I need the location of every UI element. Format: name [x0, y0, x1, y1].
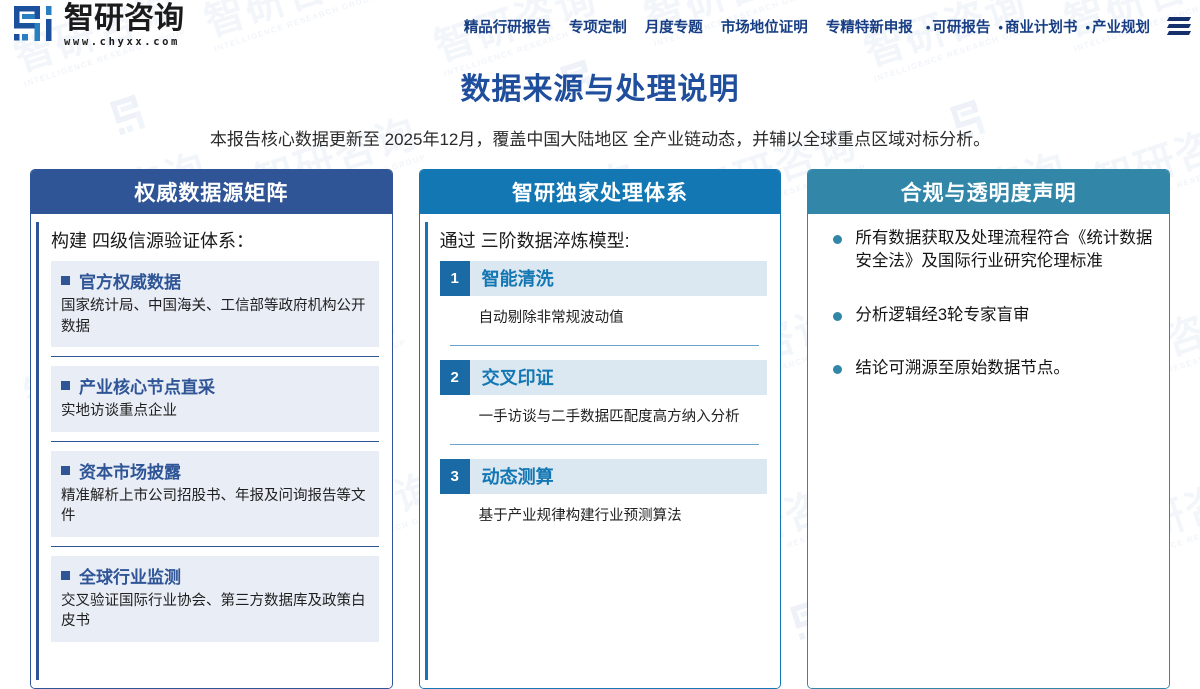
page-title: 数据来源与处理说明: [0, 64, 1200, 108]
list-item: 所有数据获取及处理流程符合《统计数据安全法》及国际行业研究伦理标准: [833, 227, 1156, 274]
nav-item-2[interactable]: 月度专题: [636, 16, 712, 37]
source-item: 官方权威数据国家统计局、中国海关、工信部等政府机构公开数据: [51, 261, 379, 347]
source-item: 资本市场披露精准解析上市公司招股书、年报及问询报告等文件: [51, 451, 379, 537]
list-item: 分析逻辑经3轮专家盲审: [833, 304, 1156, 327]
item-divider: [51, 356, 379, 357]
card-1-lead: 构建 四级信源验证体系：: [51, 227, 379, 253]
site-header: 智研咨询 www.chyxx.com 精品行研报告专项定制月度专题市场地位证明专…: [0, 0, 1200, 52]
step-desc: 一手访谈与二手数据匹配度高方纳入分析: [479, 407, 768, 428]
step-title: 智能清洗: [470, 261, 554, 296]
main-nav: 精品行研报告专项定制月度专题市场地位证明专精特新申报可研报告商业计划书产业规划: [455, 16, 1154, 37]
step-desc: 自动剔除非常规波动值: [479, 308, 768, 329]
compliance-text: 所有数据获取及处理流程符合《统计数据安全法》及国际行业研究伦理标准: [855, 227, 1156, 274]
card-1-body: 构建 四级信源验证体系：官方权威数据国家统计局、中国海关、工信部等政府机构公开数…: [31, 214, 392, 688]
item-divider: [51, 546, 379, 547]
source-item-title: 资本市场披露: [61, 458, 369, 483]
dot-bullet-icon: [833, 365, 842, 374]
nav-item-0[interactable]: 精品行研报告: [455, 16, 560, 37]
source-item: 全球行业监测交叉验证国际行业协会、第三方数据库及政策白皮书: [51, 556, 379, 642]
source-item-title-text: 产业核心节点直采: [79, 373, 215, 398]
nav-item-7[interactable]: 产业规划: [1081, 16, 1154, 37]
nav-item-5[interactable]: 可研报告: [922, 16, 995, 37]
step-number-badge: 3: [440, 459, 470, 494]
source-item-title: 产业核心节点直采: [61, 373, 369, 398]
compliance-text: 结论可溯源至原始数据节点。: [855, 357, 1070, 380]
brand-url: www.chyxx.com: [64, 36, 184, 48]
cards-row: 权威数据源矩阵构建 四级信源验证体系：官方权威数据国家统计局、中国海关、工信部等…: [0, 169, 1200, 689]
source-item-desc: 实地访谈重点企业: [61, 401, 369, 422]
step-divider: [450, 444, 760, 445]
card-2-header: 智研独家处理体系: [420, 170, 781, 214]
dot-bullet-icon: [833, 235, 842, 244]
source-item-desc: 交叉验证国际行业协会、第三方数据库及政策白皮书: [61, 591, 369, 632]
step-title: 动态测算: [470, 459, 554, 494]
source-item-desc: 国家统计局、中国海关、工信部等政府机构公开数据: [61, 296, 369, 337]
card-1: 权威数据源矩阵构建 四级信源验证体系：官方权威数据国家统计局、中国海关、工信部等…: [30, 169, 393, 689]
square-bullet-icon: [61, 381, 70, 390]
stacked-bars-menu-icon[interactable]: [1164, 15, 1190, 37]
list-item: 结论可溯源至原始数据节点。: [833, 357, 1156, 380]
nav-item-6[interactable]: 商业计划书: [994, 16, 1081, 37]
compliance-text: 分析逻辑经3轮专家盲审: [855, 304, 1029, 327]
accent-rail: [425, 222, 428, 680]
step-desc: 基于产业规律构建行业预测算法: [479, 506, 768, 527]
card-2-lead: 通过 三阶数据淬炼模型:: [440, 227, 768, 253]
card-3: 合规与透明度声明所有数据获取及处理流程符合《统计数据安全法》及国际行业研究伦理标…: [807, 169, 1170, 689]
card-1-header: 权威数据源矩阵: [31, 170, 392, 214]
brand-wordmark: 智研咨询: [64, 4, 184, 34]
source-item: 产业核心节点直采实地访谈重点企业: [51, 366, 379, 432]
step-divider: [450, 345, 760, 346]
brand-logo[interactable]: 智研咨询 www.chyxx.com: [14, 4, 184, 48]
source-item-title-text: 全球行业监测: [79, 563, 181, 588]
chyxx-logo-icon: [14, 6, 56, 46]
square-bullet-icon: [61, 466, 70, 475]
page-subtitle: 本报告核心数据更新至 2025年12月，覆盖中国大陆地区 全产业链动态，并辅以全…: [0, 125, 1200, 150]
card-3-header: 合规与透明度声明: [808, 170, 1169, 214]
step-header: 3动态测算: [440, 459, 768, 494]
step-header: 2交叉印证: [440, 360, 768, 395]
source-item-title-text: 官方权威数据: [79, 268, 181, 293]
nav-item-1[interactable]: 专项定制: [560, 16, 636, 37]
compliance-list: 所有数据获取及处理流程符合《统计数据安全法》及国际行业研究伦理标准分析逻辑经3轮…: [833, 227, 1156, 381]
source-item-desc: 精准解析上市公司招股书、年报及问询报告等文件: [61, 486, 369, 527]
item-divider: [51, 441, 379, 442]
step-header: 1智能清洗: [440, 261, 768, 296]
step-number-badge: 2: [440, 360, 470, 395]
source-item-title: 官方权威数据: [61, 268, 369, 293]
step-number-badge: 1: [440, 261, 470, 296]
square-bullet-icon: [61, 571, 70, 580]
card-2-body: 通过 三阶数据淬炼模型:1智能清洗自动剔除非常规波动值2交叉印证一手访谈与二手数…: [420, 214, 781, 688]
accent-rail: [36, 222, 39, 680]
source-item-title-text: 资本市场披露: [79, 458, 181, 483]
card-2: 智研独家处理体系通过 三阶数据淬炼模型:1智能清洗自动剔除非常规波动值2交叉印证…: [419, 169, 782, 689]
step-title: 交叉印证: [470, 360, 554, 395]
source-item-title: 全球行业监测: [61, 563, 369, 588]
square-bullet-icon: [61, 276, 70, 285]
nav-item-3[interactable]: 市场地位证明: [712, 16, 817, 37]
dot-bullet-icon: [833, 312, 842, 321]
nav-item-4[interactable]: 专精特新申报: [817, 16, 922, 37]
card-3-body: 所有数据获取及处理流程符合《统计数据安全法》及国际行业研究伦理标准分析逻辑经3轮…: [808, 214, 1169, 688]
